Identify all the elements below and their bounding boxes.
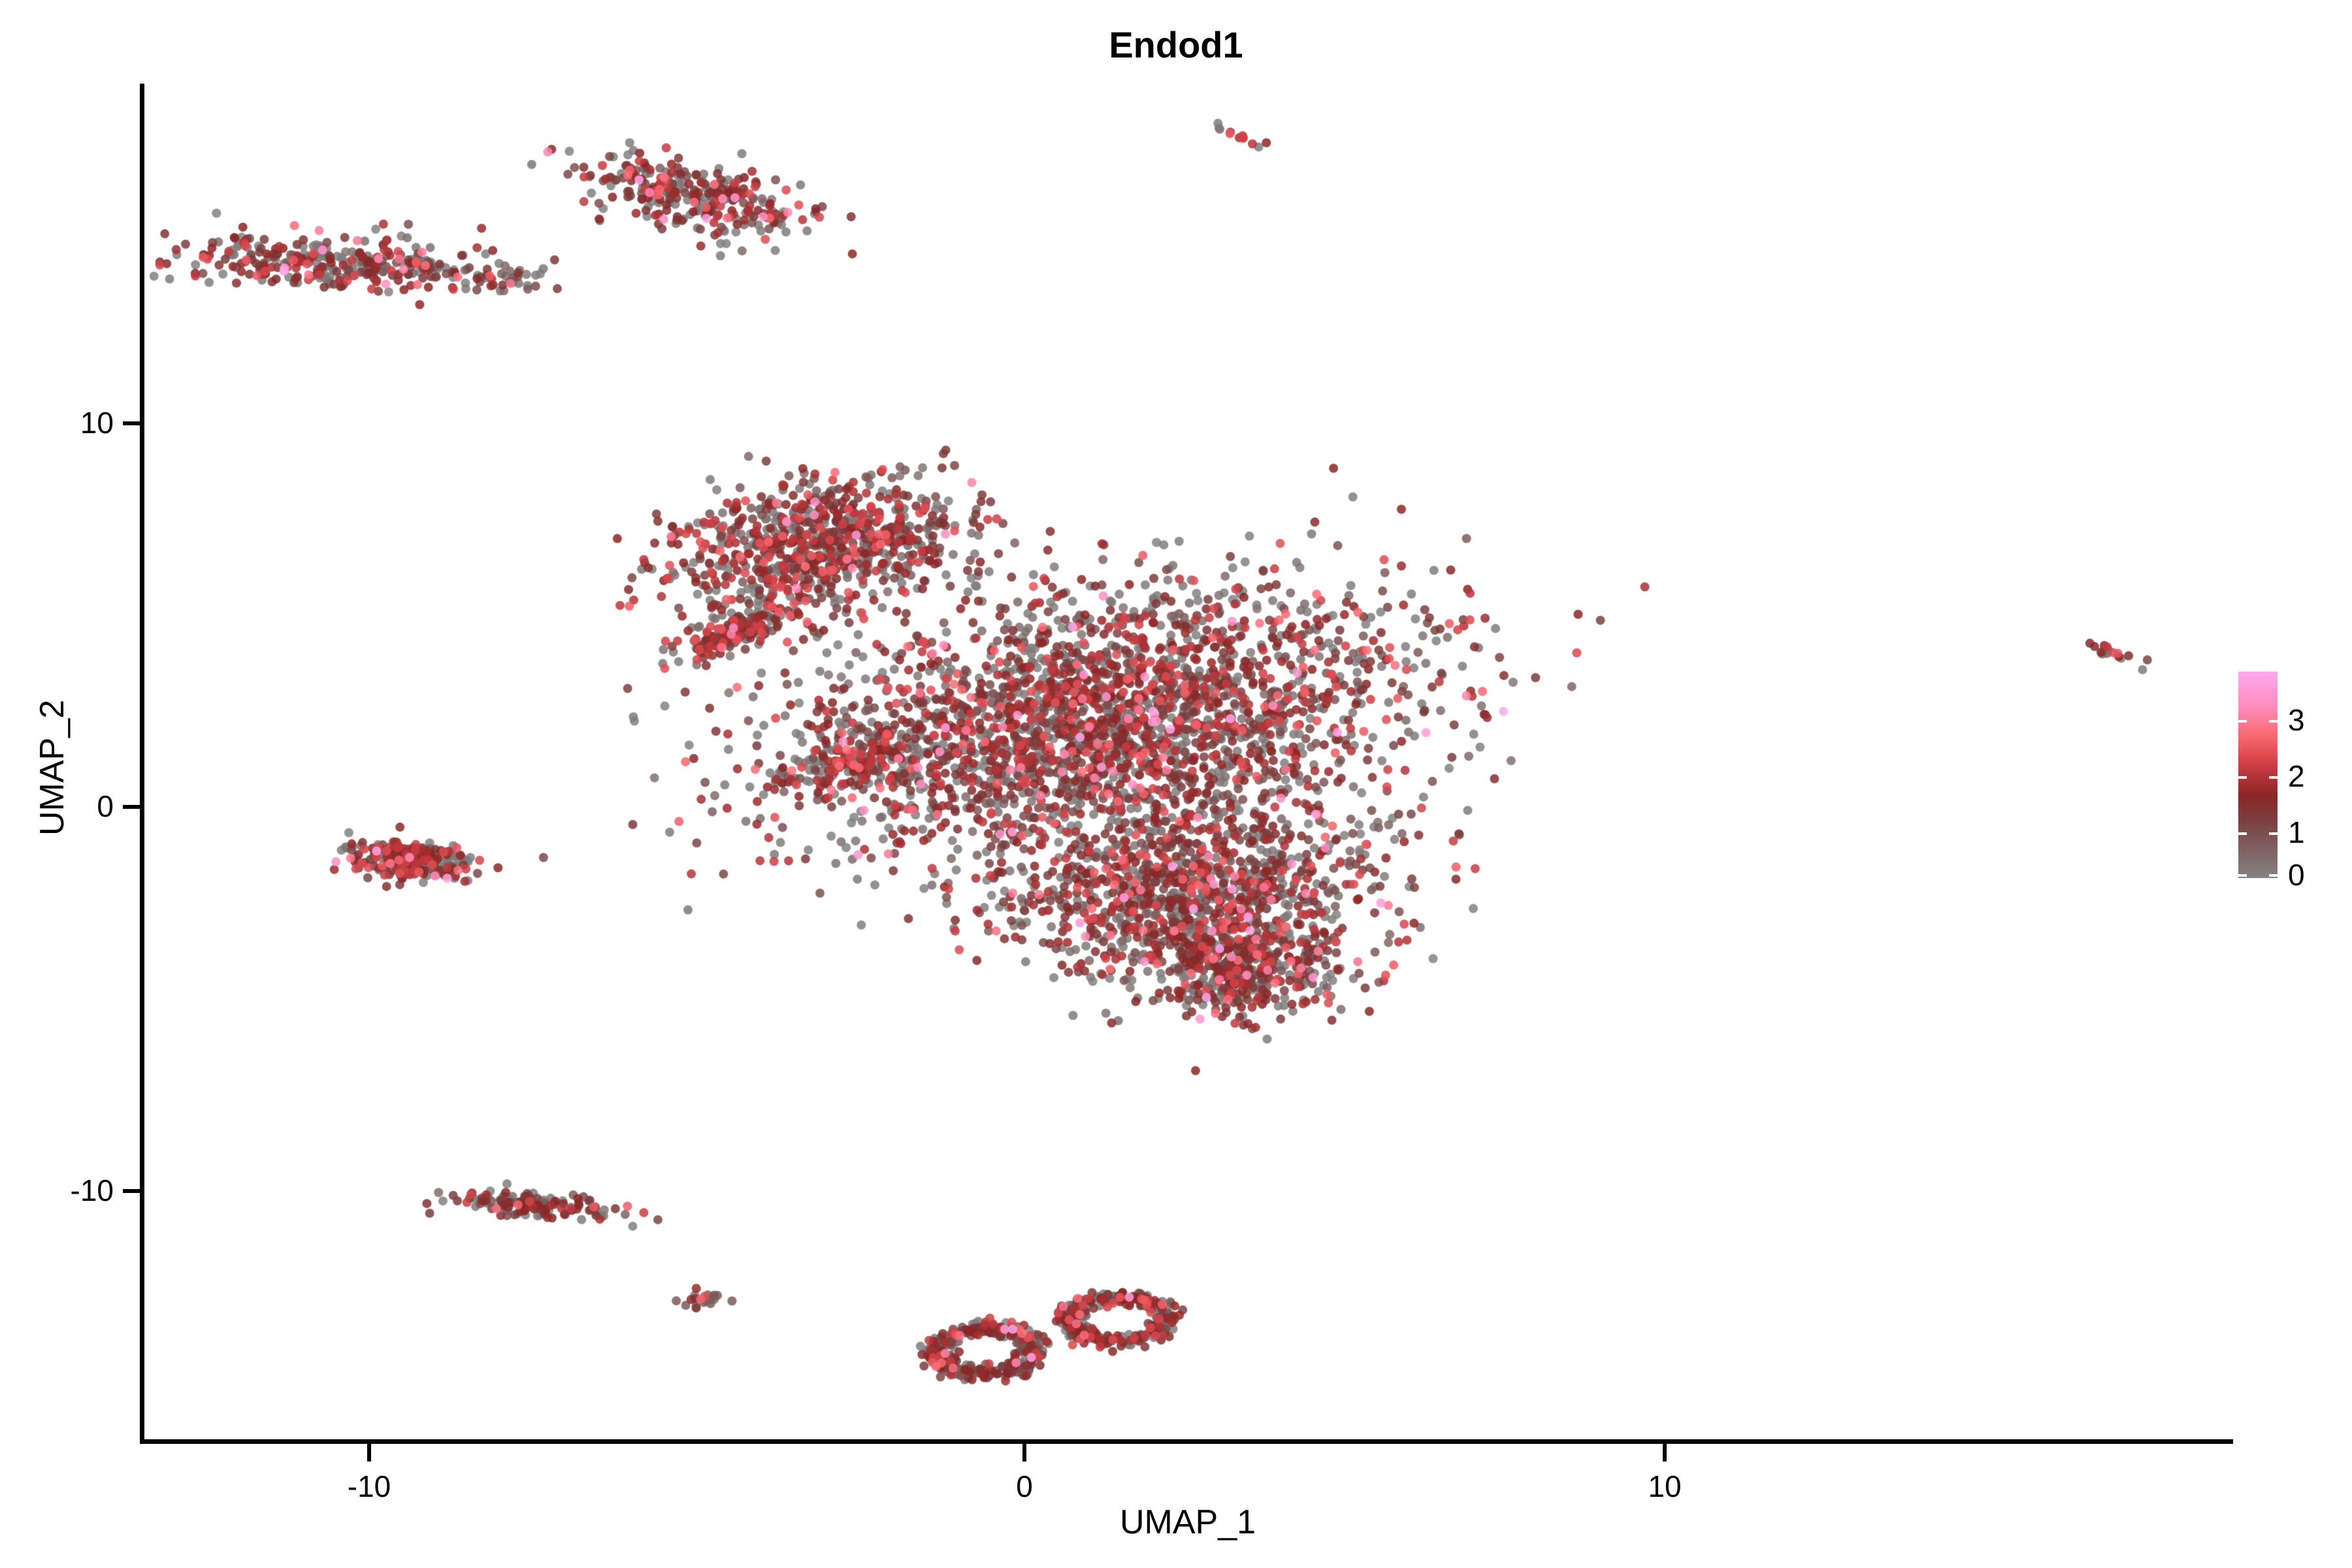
y-tick-mark-neg10 (123, 1189, 140, 1193)
color-legend: 3 2 1 0 (2238, 672, 2349, 881)
colorbar-tick-1-left (2238, 832, 2247, 835)
colorbar-tick-1-right (2269, 832, 2278, 835)
colorbar-label-2: 2 (2288, 761, 2305, 791)
colorbar-tick-0-left (2238, 874, 2247, 877)
colorbar (2238, 672, 2278, 878)
y-axis-title: UMAP_2 (33, 88, 72, 1447)
x-axis-line (140, 1439, 2233, 1444)
colorbar-label-1: 1 (2288, 817, 2305, 847)
scatter-plot-canvas (142, 84, 2233, 1441)
colorbar-label-0: 0 (2288, 860, 2305, 890)
y-tick-mark-0 (123, 805, 140, 809)
colorbar-tick-2-right (2269, 776, 2278, 779)
x-tick-label-0: 0 (953, 1469, 1096, 1504)
x-tick-label-10: 10 (1593, 1469, 1737, 1504)
page-title: Endod1 (0, 24, 2352, 66)
x-tick-mark-neg10 (367, 1444, 371, 1462)
x-axis-title: UMAP_1 (142, 1503, 2233, 1542)
x-tick-mark-10 (1663, 1444, 1667, 1462)
colorbar-tick-0-right (2269, 874, 2278, 877)
plot-panel (142, 84, 2233, 1441)
colorbar-gradient (2238, 672, 2278, 878)
colorbar-label-3: 3 (2288, 705, 2305, 735)
colorbar-tick-2-left (2238, 776, 2247, 779)
colorbar-tick-3-left (2238, 720, 2247, 723)
x-tick-mark-0 (1022, 1444, 1026, 1462)
x-tick-label-neg10: -10 (297, 1469, 441, 1504)
colorbar-tick-3-right (2269, 720, 2278, 723)
y-axis-line (140, 84, 144, 1444)
umap-feature-plot: Endod1 10 0 -10 -10 0 10 UMAP_1 UMAP_2 3… (0, 0, 2352, 1568)
y-tick-mark-10 (123, 421, 140, 425)
